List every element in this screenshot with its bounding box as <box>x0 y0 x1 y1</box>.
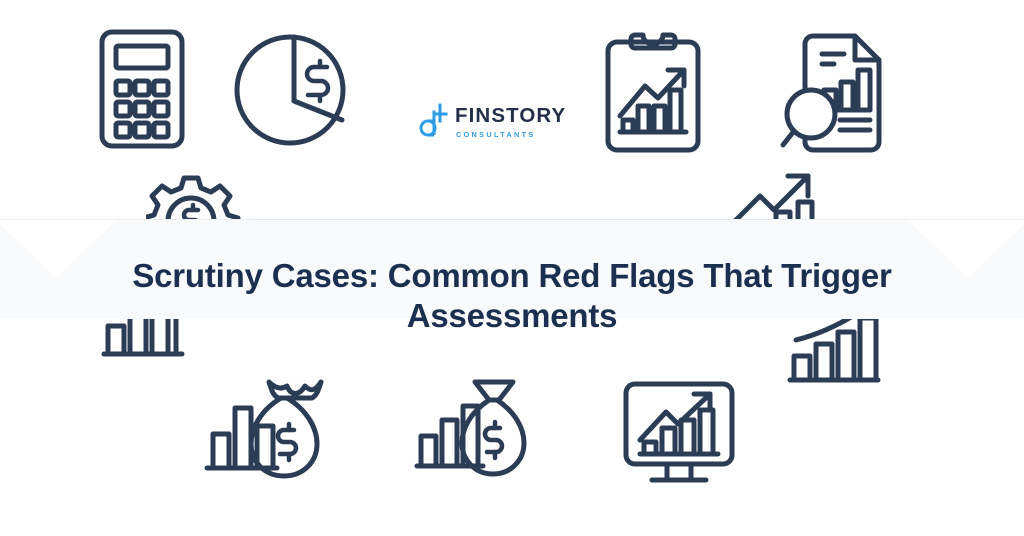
document-magnifier-icon <box>778 28 896 158</box>
finstory-logo: FINSTORY CONSULTANTS <box>418 96 568 148</box>
slide-canvas: FINSTORY CONSULTANTS Scrutiny Cases: Com… <box>0 0 1024 536</box>
money-bag-ascending-bars-icon <box>413 378 533 480</box>
finstory-monogram-icon <box>418 103 448 141</box>
banner-top-rule <box>252 219 772 220</box>
monitor-growth-chart-icon <box>618 378 740 488</box>
money-bag-bar-chart-icon <box>203 378 329 482</box>
title-banner: Scrutiny Cases: Common Red Flags That Tr… <box>0 219 1024 319</box>
calculator-icon <box>90 24 194 154</box>
pie-chart-dollar-icon <box>232 28 356 152</box>
logo-tagline: CONSULTANTS <box>456 131 566 138</box>
logo-wordmark: FINSTORY <box>455 106 566 127</box>
page-title: Scrutiny Cases: Common Red Flags That Tr… <box>92 256 932 336</box>
clipboard-bar-chart-icon <box>598 28 708 156</box>
